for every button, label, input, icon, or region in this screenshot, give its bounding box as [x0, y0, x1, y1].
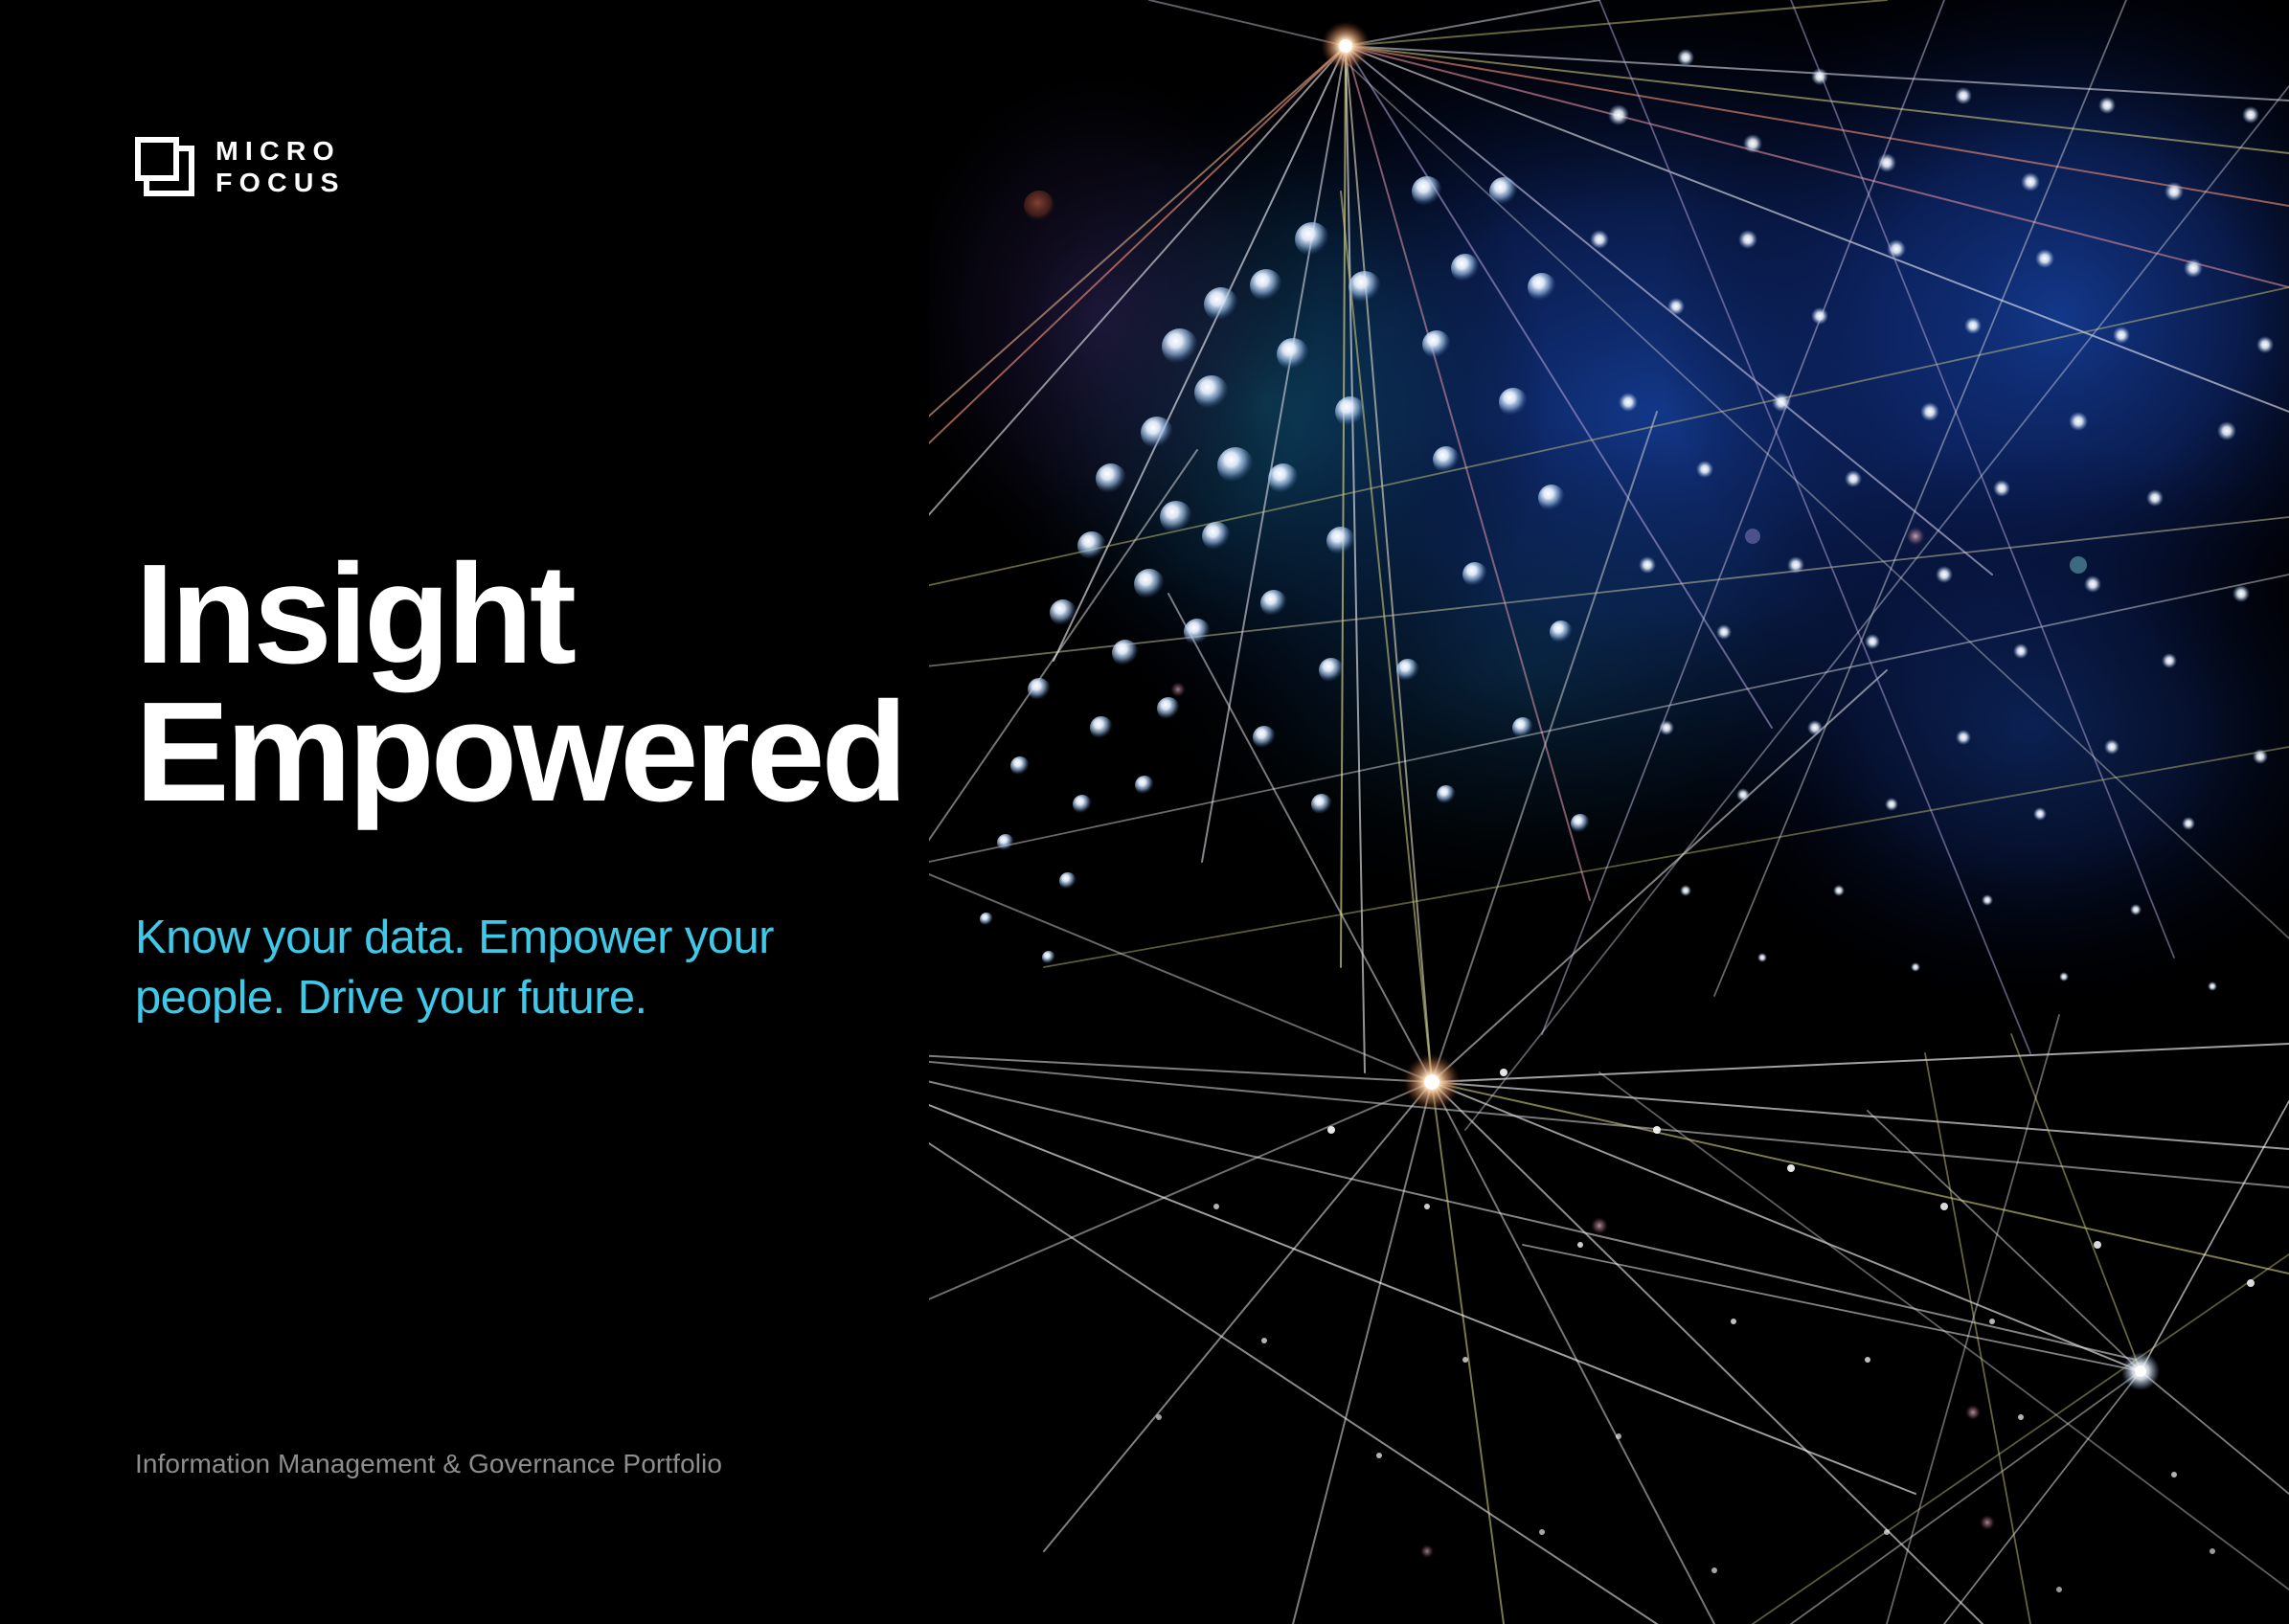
micro-focus-square-mark-icon: [135, 137, 194, 196]
hero-subtitle: Know your data. Empower your people. Dri…: [135, 908, 774, 1027]
subtitle-line-1: Know your data. Empower your: [135, 908, 774, 968]
logo-line-focus: FOCUS: [215, 169, 346, 196]
slide-root: MICRO FOCUS ® Insight Empowered Know you…: [0, 0, 2289, 1624]
micro-focus-logo[interactable]: MICRO FOCUS ®: [135, 137, 343, 196]
registered-trademark-icon: ®: [281, 131, 288, 142]
logo-square-front: [135, 137, 179, 181]
abstract-network-artwork: [929, 0, 2289, 1624]
headline-line-1: Insight: [135, 546, 904, 684]
portfolio-footer-label: Information Management & Governance Port…: [135, 1449, 722, 1479]
headline-line-2: Empowered: [135, 684, 904, 822]
logo-wordmark: MICRO FOCUS ®: [215, 138, 343, 196]
subtitle-line-2: people. Drive your future.: [135, 968, 774, 1028]
page-title: Insight Empowered: [135, 546, 904, 821]
network-graphic-svg: [929, 0, 2289, 1624]
